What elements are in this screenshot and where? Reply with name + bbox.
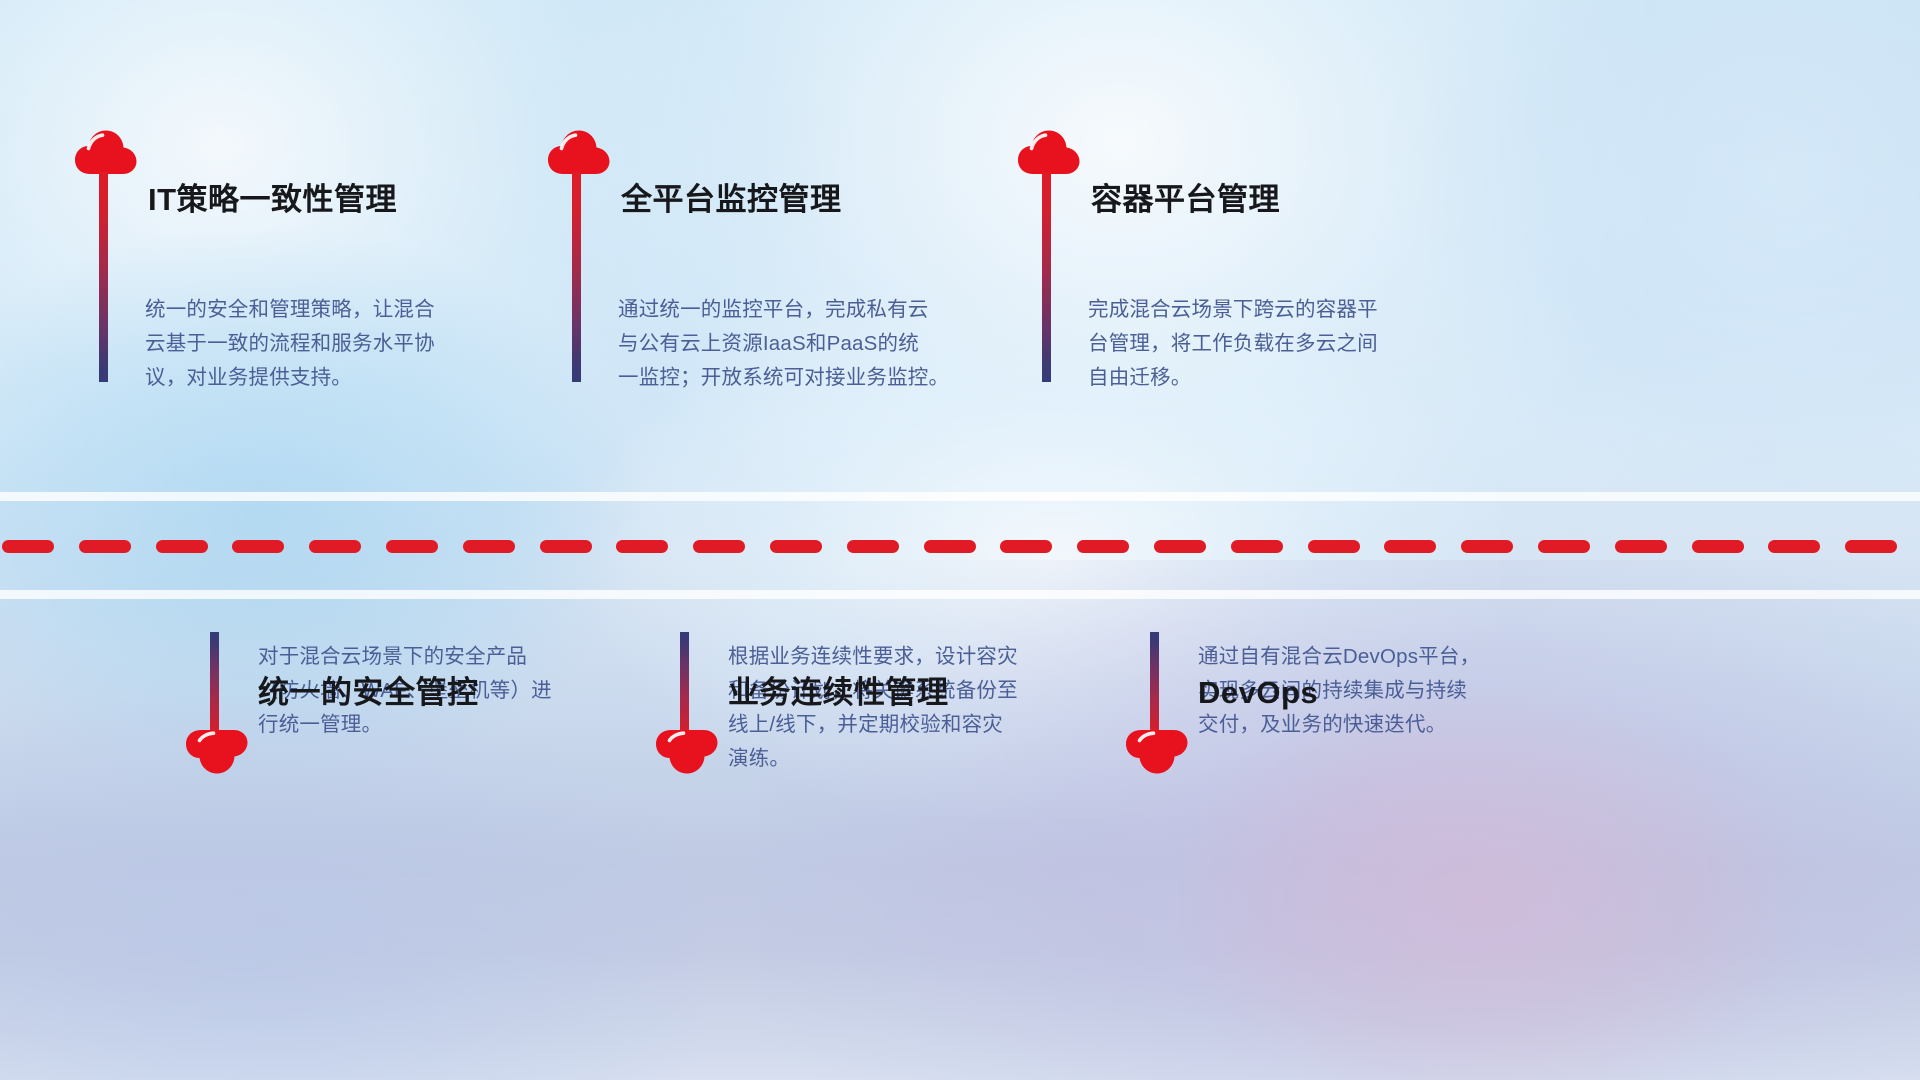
divider-dash (1308, 540, 1360, 553)
cloud-icon (656, 728, 718, 774)
divider-dash (847, 540, 899, 553)
divider-dash (924, 540, 976, 553)
divider-dash (2, 540, 54, 553)
divider-rail-top (0, 492, 1920, 501)
card-body: 通过统一的监控平台，完成私有云 与公有云上资源IaaS和PaaS的统 一监控；开… (618, 293, 1018, 395)
card-title: 业务连续性管理 (728, 674, 949, 711)
divider-dash (309, 540, 361, 553)
card-body: 统一的安全和管理策略，让混合 云基于一致的流程和服务水平协 议，对业务提供支持。 (145, 293, 517, 395)
divider-dash (1000, 540, 1052, 553)
stem-connector (99, 172, 108, 382)
divider-dash (1231, 540, 1283, 553)
stem-connector (1042, 172, 1051, 382)
divider-dash (616, 540, 668, 553)
card-title: IT策略一致性管理 (148, 181, 397, 218)
card-title: 全平台监控管理 (621, 181, 842, 218)
divider-dash (770, 540, 822, 553)
divider-dash (540, 540, 592, 553)
divider-dash (1461, 540, 1513, 553)
divider-dash (1154, 540, 1206, 553)
divider-dash (1845, 540, 1897, 553)
card-title: 统一的安全管控 (258, 674, 479, 711)
cloud-icon (1018, 130, 1080, 176)
cloud-icon (75, 130, 137, 176)
card-title: DevOps (1198, 674, 1318, 711)
divider-dash (1538, 540, 1590, 553)
divider-dash (1692, 540, 1744, 553)
divider-dash (1615, 540, 1667, 553)
divider-dash (156, 540, 208, 553)
divider-dash (386, 540, 438, 553)
divider-dash (1768, 540, 1820, 553)
divider-dash (232, 540, 284, 553)
divider-dash (1077, 540, 1129, 553)
card-body: 完成混合云场景下跨云的容器平 台管理，将工作负载在多云之间 自由迁移。 (1088, 293, 1468, 395)
divider-dash (1384, 540, 1436, 553)
cloud-icon (548, 130, 610, 176)
card-title: 容器平台管理 (1091, 181, 1280, 218)
cloud-icon (186, 728, 248, 774)
divider-dash (693, 540, 745, 553)
cloud-icon (1126, 728, 1188, 774)
divider-rail-bottom (0, 590, 1920, 599)
divider-dash (79, 540, 131, 553)
divider-dash (463, 540, 515, 553)
divider-dashed-line (0, 540, 1920, 553)
stem-connector (572, 172, 581, 382)
